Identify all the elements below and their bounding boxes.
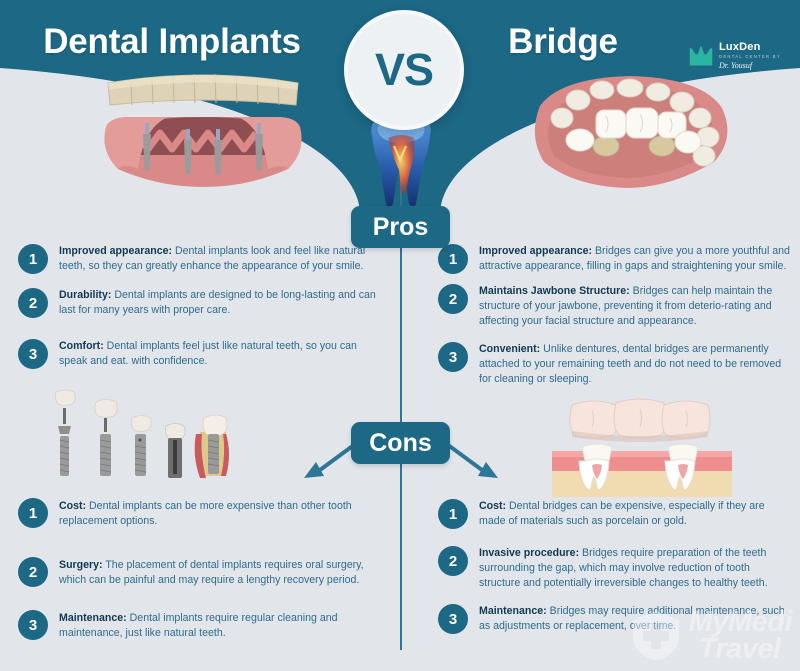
implant-arch-illustration [88, 65, 318, 195]
item-label: Cost: [59, 500, 86, 512]
list-item: 3 Maintenance: Dental implants require r… [18, 610, 386, 641]
logo-doctor-name: Dr. Yousuf [719, 62, 781, 70]
item-number: 3 [438, 604, 468, 634]
item-number: 1 [18, 244, 48, 274]
item-text: Convenient: Unlike dentures, dental brid… [479, 341, 790, 387]
list-item: 1 Cost: Dental bridges can be expensive,… [438, 498, 790, 529]
list-item: 3 Maintenance: Bridges may require addit… [438, 603, 790, 634]
bridge-jaw-illustration [510, 62, 750, 197]
item-number: 2 [18, 288, 48, 318]
list-item: 1 Improved appearance: Dental implants l… [18, 243, 386, 274]
item-number: 1 [438, 499, 468, 529]
crown-icon [688, 43, 714, 69]
item-number: 2 [18, 557, 48, 587]
item-body: Dental implants feel just like natural t… [59, 340, 357, 367]
left-pros-list: 1 Improved appearance: Dental implants l… [18, 243, 386, 381]
item-label: Invasive procedure: [479, 547, 579, 559]
item-label: Convenient: [479, 343, 540, 355]
item-body: Dental bridges can be expensive, especia… [479, 500, 765, 527]
logo-subtitle: DENTAL CENTER BY [719, 55, 781, 59]
item-body: The placement of dental implants require… [59, 559, 364, 586]
vs-badge: VS [344, 10, 464, 130]
logo-text-block: LuxDen DENTAL CENTER BY Dr. Yousuf [719, 42, 781, 70]
list-item: 3 Comfort: Dental implants feel just lik… [18, 338, 386, 369]
list-item: 2 Maintains Jawbone Structure: Bridges c… [438, 283, 790, 329]
item-number: 1 [438, 244, 468, 274]
item-number: 2 [438, 284, 468, 314]
list-item: 2 Invasive procedure: Bridges require pr… [438, 545, 790, 591]
item-text: Maintenance: Bridges may require additio… [479, 603, 790, 634]
item-label: Maintenance: [59, 612, 127, 624]
item-label: Maintains Jawbone Structure: [479, 285, 630, 297]
vs-label: VS [375, 44, 433, 96]
item-number: 2 [438, 546, 468, 576]
item-number: 3 [438, 342, 468, 372]
right-pros-list: 1 Improved appearance: Bridges can give … [438, 243, 790, 399]
list-item: 3 Convenient: Unlike dentures, dental br… [438, 341, 790, 387]
page-title-left: Dental Implants [0, 22, 374, 62]
item-text: Cost: Dental bridges can be expensive, e… [479, 498, 790, 529]
item-text: Durability: Dental implants are designed… [59, 287, 386, 318]
item-label: Cost: [479, 500, 506, 512]
item-text: Cost: Dental implants can be more expens… [59, 498, 386, 529]
item-text: Improved appearance: Dental implants loo… [59, 243, 386, 274]
item-number: 3 [18, 610, 48, 640]
item-label: Comfort: [59, 340, 104, 352]
item-text: Improved appearance: Bridges can give yo… [479, 243, 790, 274]
list-item: 2 Surgery: The placement of dental impla… [18, 557, 386, 588]
list-item: 2 Durability: Dental implants are design… [18, 287, 386, 318]
implant-stages-illustration [40, 388, 250, 483]
item-label: Maintenance: [479, 605, 547, 617]
item-label: Improved appearance: [59, 245, 172, 257]
pros-label: Pros [373, 213, 429, 242]
item-text: Maintains Jawbone Structure: Bridges can… [479, 283, 790, 329]
list-item: 1 Improved appearance: Bridges can give … [438, 243, 790, 274]
logo-name: LuxDen [719, 42, 781, 53]
bridge-diagram-illustration [552, 393, 732, 498]
cons-badge: Cons [351, 422, 450, 464]
item-number: 3 [18, 339, 48, 369]
pros-badge: Pros [351, 206, 450, 248]
infographic-root: Dental Implants Bridge [0, 0, 800, 671]
item-body: Dental implants can be more expensive th… [59, 500, 352, 527]
item-text: Invasive procedure: Bridges require prep… [479, 545, 790, 591]
list-item: 1 Cost: Dental implants can be more expe… [18, 498, 386, 529]
item-label: Improved appearance: [479, 245, 592, 257]
luxden-logo: LuxDen DENTAL CENTER BY Dr. Yousuf [688, 36, 784, 76]
item-text: Surgery: The placement of dental implant… [59, 557, 386, 588]
item-label: Surgery: [59, 559, 103, 571]
left-cons-list: 1 Cost: Dental implants can be more expe… [18, 498, 386, 653]
right-cons-list: 1 Cost: Dental bridges can be expensive,… [438, 498, 790, 646]
item-text: Maintenance: Dental implants require reg… [59, 610, 386, 641]
item-label: Durability: [59, 289, 111, 301]
cons-label: Cons [369, 429, 432, 458]
item-text: Comfort: Dental implants feel just like … [59, 338, 386, 369]
item-number: 1 [18, 498, 48, 528]
